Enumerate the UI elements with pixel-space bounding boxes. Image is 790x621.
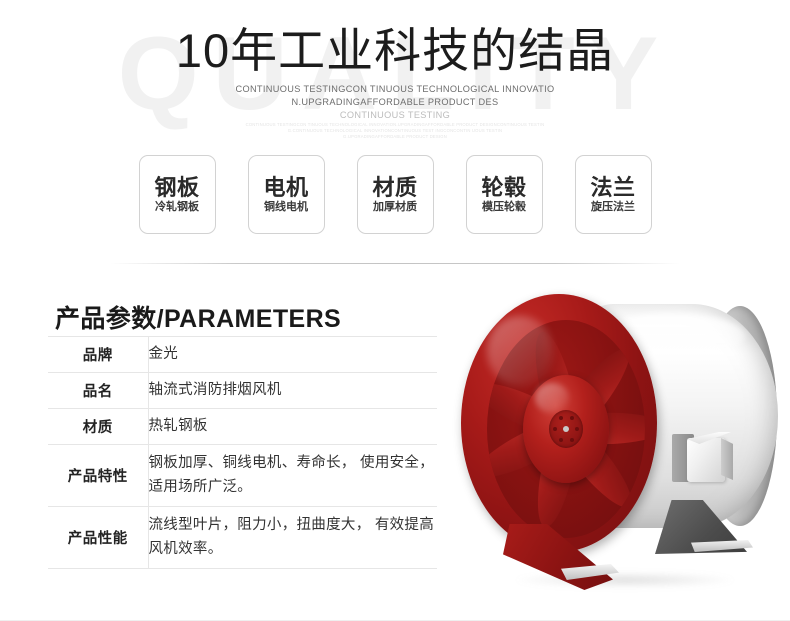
- hero-subtitle: CONTINUOUS TESTINGCON TINUOUS TECHNOLOGI…: [0, 83, 790, 140]
- feature-badge-title: 材质: [372, 176, 417, 200]
- fan-hub-bolt: [559, 438, 563, 442]
- spec-value: 流线型叶片，阻力小，扭曲度大， 有效提高风机效率。: [148, 507, 437, 569]
- spec-label: 材质: [48, 409, 148, 445]
- fan-hub-plate: [549, 410, 583, 448]
- feature-badge-subtitle: 旋压法兰: [591, 201, 635, 213]
- feature-badge-subtitle: 模压轮毂: [482, 201, 526, 213]
- spec-label: 产品性能: [48, 507, 148, 569]
- feature-badge-flange: 法兰 旋压法兰: [575, 155, 652, 234]
- feature-badge-steel-plate: 钢板 冷轧钢板: [139, 155, 216, 234]
- spec-value: 金光: [148, 337, 437, 373]
- table-row: 材质 热轧钢板: [48, 409, 437, 445]
- feature-badge-hub: 轮毂 模压轮毂: [466, 155, 543, 234]
- fan-hub-highlight: [535, 383, 569, 413]
- ground-shadow: [515, 572, 735, 588]
- feature-badge-row: 钢板 冷轧钢板 电机 铜线电机 材质 加厚材质 轮毂 模压轮毂 法兰 旋压法兰: [0, 155, 790, 234]
- junction-box-side: [721, 438, 733, 480]
- feature-badge-subtitle: 冷轧钢板: [155, 201, 199, 213]
- hero-subtitle-line-3: CONTINUOUS TESTING: [0, 109, 790, 122]
- spec-label: 品名: [48, 373, 148, 409]
- product-image-axial-fan: [455, 288, 785, 588]
- hero-subtitle-line-2: N.UPGRADINGAFFORDABLE PRODUCT DES: [0, 96, 790, 109]
- feature-badge-title: 电机: [263, 176, 308, 200]
- hero-banner: QUALITY 10年工业科技的结晶 CONTINUOUS TESTINGCON…: [0, 0, 790, 264]
- spec-value: 轴流式消防排烟风机: [148, 373, 437, 409]
- feature-badge-subtitle: 铜线电机: [264, 201, 308, 213]
- table-row: 产品特性 钢板加厚、铜线电机、寿命长， 使用安全，适用场所广泛。: [48, 445, 437, 507]
- fan-hub-bolt: [570, 438, 574, 442]
- table-row: 品牌 金光: [48, 337, 437, 373]
- fan-hub-bolt: [570, 416, 574, 420]
- parameters-heading: 产品参数/PARAMETERS: [55, 299, 341, 335]
- fan-hub-bolt: [553, 427, 557, 431]
- feature-badge-title: 法兰: [590, 176, 635, 200]
- feature-badge-subtitle: 加厚材质: [373, 201, 417, 213]
- feature-badge-material: 材质 加厚材质: [357, 155, 434, 234]
- junction-box: [687, 438, 725, 482]
- fan-hub: [523, 375, 609, 483]
- fan-hub-bolt: [575, 427, 579, 431]
- hero-subtitle-line-1: CONTINUOUS TESTINGCON TINUOUS TECHNOLOGI…: [0, 83, 790, 96]
- fan-ring-highlight: [487, 316, 553, 386]
- fan-hub-bolt: [559, 416, 563, 420]
- product-detail-page: QUALITY 10年工业科技的结晶 CONTINUOUS TESTINGCON…: [0, 0, 790, 621]
- spec-label: 品牌: [48, 337, 148, 373]
- spec-label: 产品特性: [48, 445, 148, 507]
- feature-badge-motor: 电机 铜线电机: [248, 155, 325, 234]
- fan-inlet-ring: [461, 294, 657, 552]
- hero-microtext-line-3: G.UPGRADINGAFFORDABLE PRODUCT DESIGN: [0, 134, 790, 140]
- feature-badge-title: 钢板: [154, 176, 199, 200]
- spec-value: 热轧钢板: [148, 409, 437, 445]
- table-row: 品名 轴流式消防排烟风机: [48, 373, 437, 409]
- hero-title: 10年工业科技的结晶: [0, 24, 790, 78]
- fan-hub-center-bolt: [563, 426, 569, 432]
- fan-illustration: [455, 288, 785, 588]
- section-divider: [110, 263, 680, 264]
- spec-value: 钢板加厚、铜线电机、寿命长， 使用安全，适用场所广泛。: [148, 445, 437, 507]
- table-row: 产品性能 流线型叶片，阻力小，扭曲度大， 有效提高风机效率。: [48, 507, 437, 569]
- specification-table: 品牌 金光 品名 轴流式消防排烟风机 材质 热轧钢板 产品特性 钢板加厚、铜线电…: [48, 336, 437, 569]
- feature-badge-title: 轮毂: [481, 176, 526, 200]
